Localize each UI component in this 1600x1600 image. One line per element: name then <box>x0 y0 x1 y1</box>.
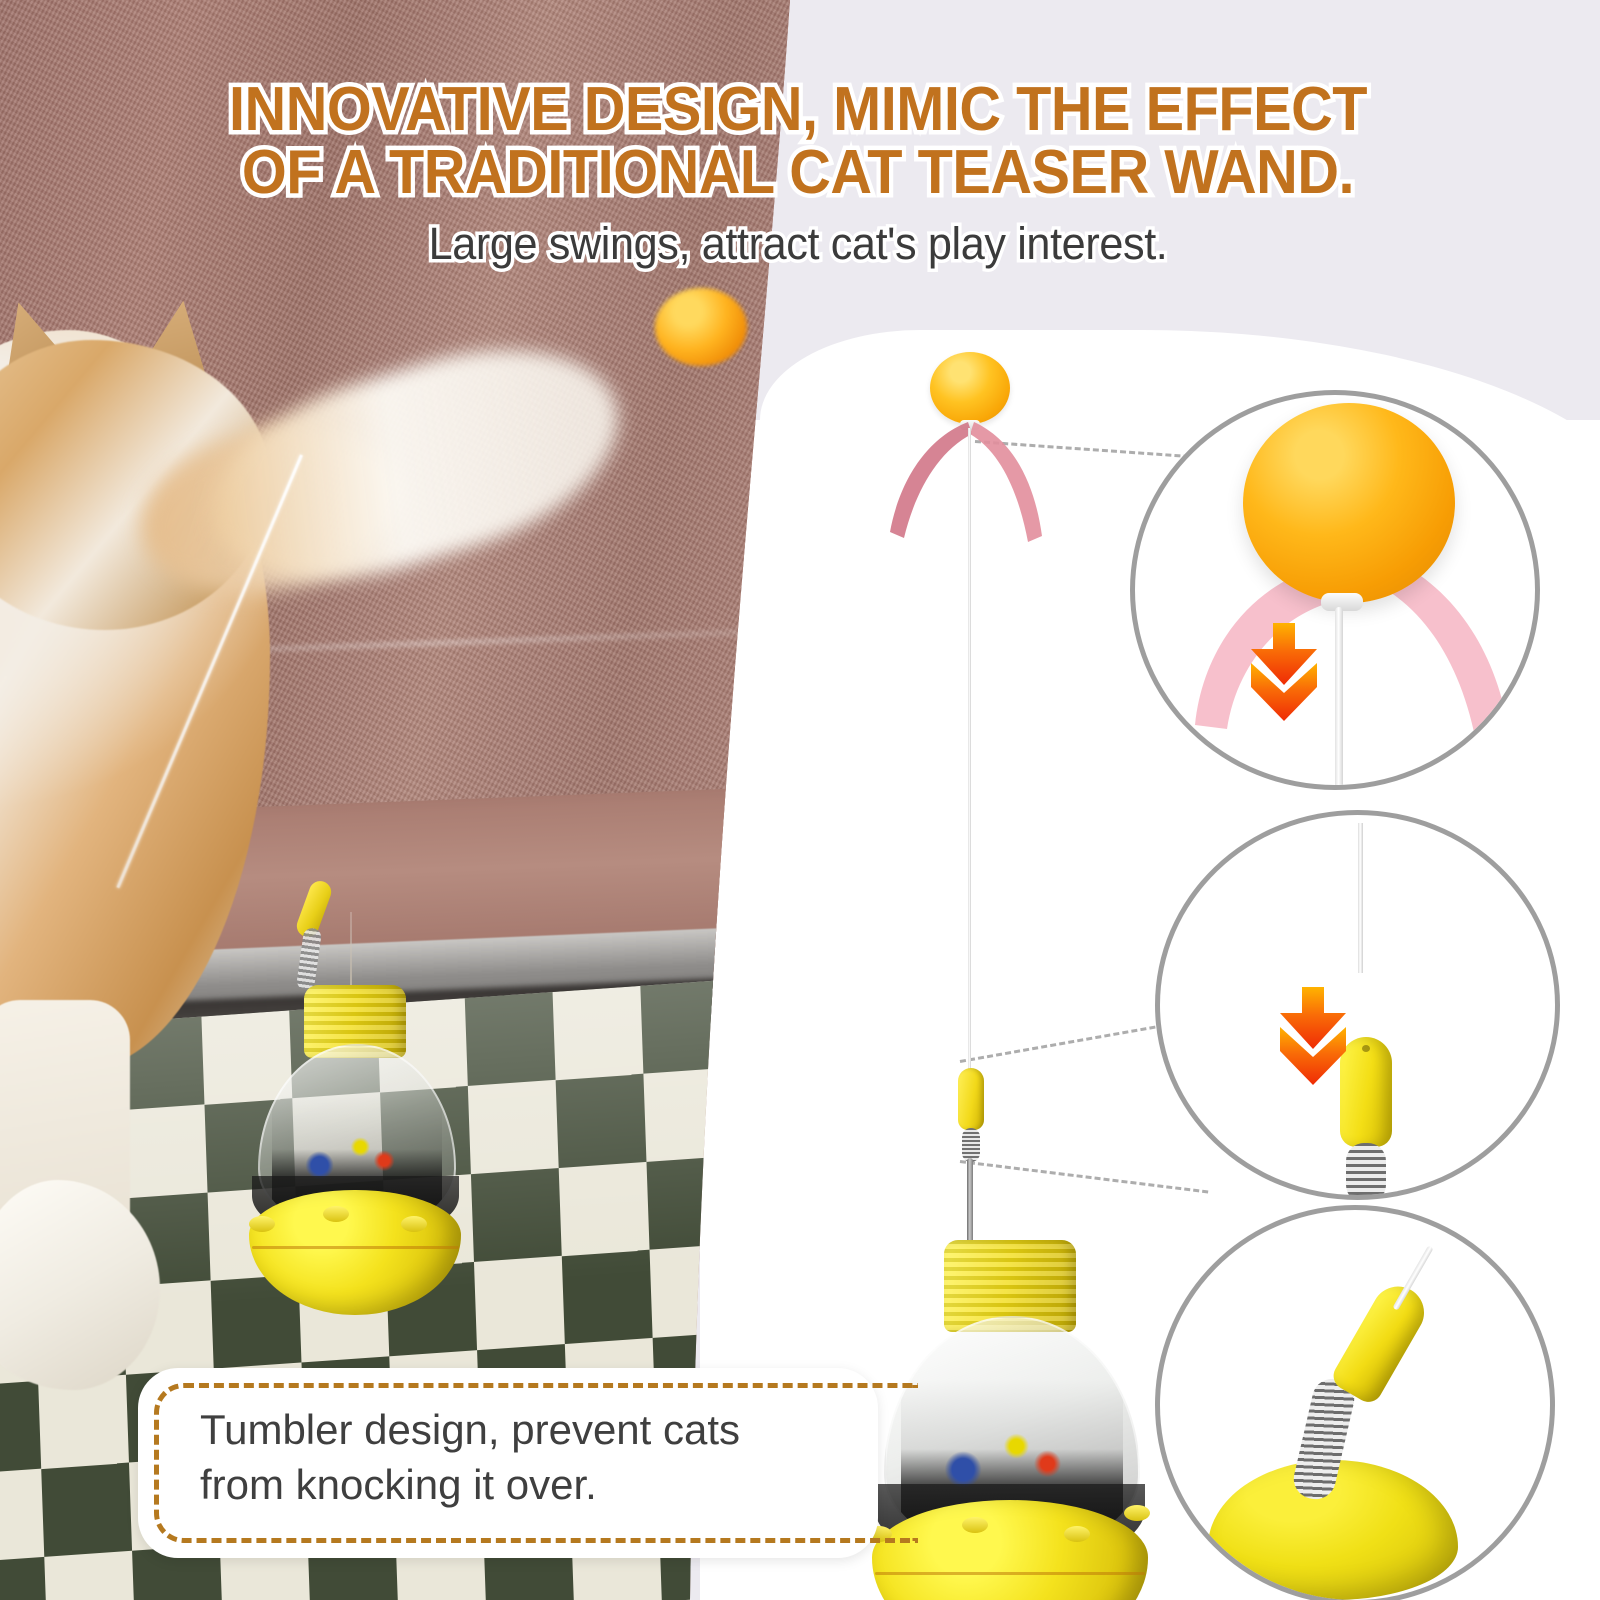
callout-orange-ball <box>1243 403 1455 603</box>
callout-yellow-cap <box>1328 1277 1433 1407</box>
headline-line-2: OF A TRADITIONAL CAT TEASER WAND. <box>97 141 1499 204</box>
headline-line-1: INNOVATIVE DESIGN, MIMIC THE EFFECT <box>229 75 1367 144</box>
caption-text: Tumbler design, prevent cats from knocki… <box>200 1402 840 1513</box>
caption-line-1: Tumbler design, prevent cats <box>200 1402 840 1457</box>
callout-spring-cap <box>1155 810 1560 1200</box>
callout-base-spring <box>1155 1205 1555 1600</box>
subtitle: Large swings, attract cat's play interes… <box>74 218 1522 270</box>
toy-wire <box>350 912 352 991</box>
diagram-yellow-cap <box>958 1068 984 1130</box>
toy-yellow-base <box>249 1190 461 1315</box>
tumbler-toy-in-photo <box>240 985 470 1315</box>
flying-ball <box>655 288 747 366</box>
product-feature-graphic: INNOVATIVE DESIGN, MIMIC THE EFFECT OF A… <box>0 0 1600 1600</box>
headline: INNOVATIVE DESIGN, MIMIC THE EFFECT OF A… <box>97 78 1499 204</box>
toy-nub <box>1064 1526 1090 1542</box>
diagram-spring <box>962 1128 980 1162</box>
callout-white-rod <box>1358 823 1363 973</box>
callout-3-content <box>1160 1210 1550 1600</box>
toy-nub <box>323 1206 349 1222</box>
callout-1-content <box>1135 395 1535 785</box>
caption-line-2: from knocking it over. <box>200 1457 840 1512</box>
callout-metal-spring <box>1346 1143 1386 1195</box>
tumbler-caption-box: Tumbler design, prevent cats from knocki… <box>138 1368 878 1558</box>
toy-nub <box>401 1216 427 1232</box>
toy-seam-ring <box>875 1572 1145 1575</box>
toy-seam-ring <box>252 1246 459 1249</box>
callout-yellow-cap <box>1340 1037 1392 1147</box>
callout-ball-swing <box>1130 390 1540 790</box>
callout-white-rod <box>1335 607 1343 785</box>
toy-nub <box>249 1216 275 1232</box>
double-chevron-down-icon <box>1251 623 1317 735</box>
callout-2-content <box>1160 815 1555 1195</box>
double-chevron-down-icon <box>1280 987 1346 1099</box>
diagram-white-rod <box>968 428 971 1088</box>
toy-nub <box>1124 1505 1150 1521</box>
